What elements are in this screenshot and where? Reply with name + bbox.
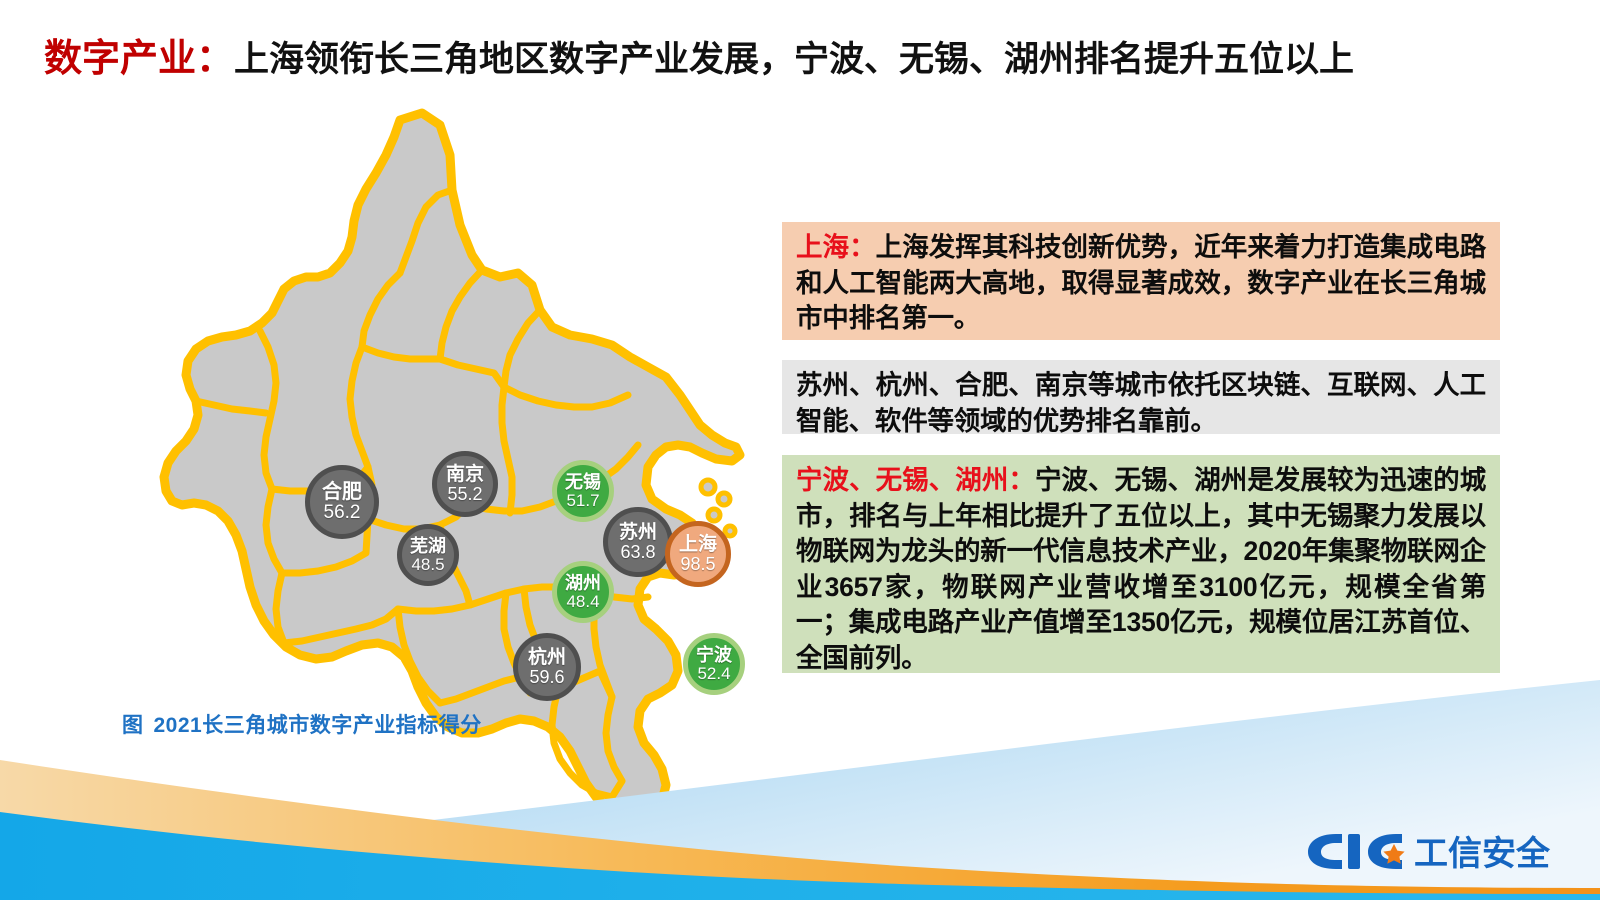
city-bubble-5[interactable]: 苏州63.8 bbox=[603, 507, 673, 577]
city-bubble-name: 上海 bbox=[679, 535, 717, 554]
info-box-cities-body: 苏州、杭州、合肥、南京等城市依托区块链、互联网、人工智能、软件等领域的优势排名靠… bbox=[796, 370, 1486, 436]
info-box-shanghai: 上海：上海发挥其科技创新优势，近年来着力打造集成电路和人工智能两大高地，取得显著… bbox=[782, 222, 1500, 340]
city-bubble-name: 宁波 bbox=[696, 646, 732, 664]
city-bubble-value: 98.5 bbox=[680, 555, 715, 573]
city-bubble-value: 51.7 bbox=[566, 492, 599, 509]
brand-logo-svg: 工信安全 bbox=[1296, 822, 1576, 878]
city-bubble-9[interactable]: 宁波52.4 bbox=[683, 633, 745, 695]
brand-logo: 工信安全 bbox=[1296, 822, 1576, 878]
info-box-shanghai-lead: 上海： bbox=[796, 232, 876, 262]
city-bubble-value: 52.4 bbox=[697, 665, 730, 682]
figure-caption: 图2021长三角城市数字产业指标得分 bbox=[122, 709, 482, 739]
city-bubble-name: 杭州 bbox=[528, 648, 566, 667]
city-bubble-value: 48.4 bbox=[566, 593, 599, 610]
city-bubble-7[interactable]: 湖州48.4 bbox=[552, 561, 614, 623]
city-bubble-name: 温州 bbox=[657, 811, 691, 828]
info-box-ningbo-lead: 宁波、无锡、湖州： bbox=[796, 465, 1035, 495]
city-bubble-name: 苏州 bbox=[619, 523, 657, 542]
info-box-shanghai-body: 上海发挥其科技创新优势，近年来着力打造集成电路和人工智能两大高地，取得显著成效，… bbox=[796, 232, 1486, 333]
city-bubble-1[interactable]: 合肥56.2 bbox=[305, 465, 379, 539]
slide-canvas: 数字产业：上海领衔长三角地区数字产业发展，宁波、无锡、湖州排名提升五位以上 bbox=[0, 0, 1600, 900]
page-title: 数字产业：上海领衔长三角地区数字产业发展，宁波、无锡、湖州排名提升五位以上 bbox=[44, 33, 1444, 85]
city-bubble-2[interactable]: 南京55.2 bbox=[432, 451, 498, 517]
city-bubble-name: 无锡 bbox=[565, 473, 601, 491]
info-box-ningbo: 宁波、无锡、湖州：宁波、无锡、湖州是发展较为迅速的城市，排名与上年相比提升了五位… bbox=[782, 455, 1500, 673]
city-bubble-name: 芜湖 bbox=[410, 537, 446, 555]
logo-text: 工信安全 bbox=[1414, 834, 1551, 873]
info-box-ningbo-body: 宁波、无锡、湖州是发展较为迅速的城市，排名与上年相比提升了五位以上，其中无锡聚力… bbox=[796, 465, 1486, 673]
city-bubble-6[interactable]: 上海98.5 bbox=[665, 521, 731, 587]
figure-caption-text: 2021长三角城市数字产业指标得分 bbox=[154, 714, 482, 737]
title-highlight: 数字产业： bbox=[44, 38, 234, 80]
city-bubble-value: 55.2 bbox=[447, 485, 482, 503]
city-bubble-value: 48.5 bbox=[411, 556, 444, 573]
city-bubble-name: 湖州 bbox=[565, 574, 601, 592]
info-box-cities: 苏州、杭州、合肥、南京等城市依托区块链、互联网、人工智能、软件等领域的优势排名靠… bbox=[782, 360, 1500, 434]
figure-caption-label: 图 bbox=[122, 714, 144, 737]
city-bubble-10[interactable]: 温州48.4 bbox=[645, 799, 703, 857]
city-bubble-name: 合肥 bbox=[322, 482, 362, 502]
city-bubble-4[interactable]: 无锡51.7 bbox=[552, 460, 614, 522]
city-bubble-name: 南京 bbox=[446, 465, 484, 484]
city-bubble-value: 63.8 bbox=[620, 543, 655, 561]
city-bubble-value: 59.6 bbox=[529, 668, 564, 686]
title-rest: 上海领衔长三角地区数字产业发展，宁波、无锡、湖州排名提升五位以上 bbox=[234, 40, 1354, 79]
city-bubble-3[interactable]: 芜湖48.5 bbox=[397, 524, 459, 586]
city-bubble-value: 56.2 bbox=[324, 503, 361, 522]
city-bubble-8[interactable]: 杭州59.6 bbox=[513, 633, 581, 701]
city-bubble-value: 48.4 bbox=[658, 829, 689, 845]
